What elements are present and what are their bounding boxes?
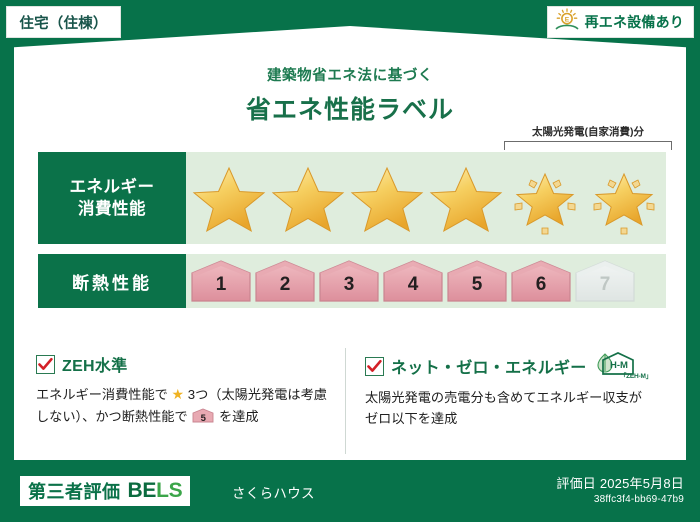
- achievement-net-zero-energy: ネット・ゼロ・エネルギー H-M 「ZEH-M」 太陽光発電の売電分も含めてエネ…: [351, 352, 666, 430]
- star-6: [585, 161, 663, 235]
- page-title: 省エネ性能ラベル: [0, 90, 700, 126]
- energy-row-label: エネルギー 消費性能: [38, 152, 186, 244]
- insulation-row-label: 断熱性能: [38, 254, 186, 308]
- energy-row-label-line1: エネルギー: [70, 176, 155, 198]
- solar-annotation-label: 太陽光発電(自家消費)分: [504, 124, 672, 139]
- star-4: [427, 161, 505, 235]
- achievement-zeh-text-3: を達成: [219, 409, 259, 424]
- insulation-level-3: 3: [318, 259, 380, 303]
- insulation-level-1: 1: [190, 259, 252, 303]
- achievement-nze-header: ネット・ゼロ・エネルギー H-M 「ZEH-M」: [365, 352, 652, 380]
- achievement-nze-title: ネット・ゼロ・エネルギー: [391, 354, 587, 378]
- insulation-level-7: 7: [574, 259, 636, 303]
- insulation-level-6-number: 6: [510, 274, 572, 296]
- house-type-label: 住宅（住棟）: [19, 12, 107, 33]
- renewable-badge-label: 再エネ設備あり: [585, 12, 684, 32]
- inline-star-icon: ★: [172, 386, 185, 402]
- insulation-level-2-number: 2: [254, 274, 316, 296]
- bels-logo: BELS: [128, 479, 183, 503]
- renewable-equipment-badge: E 再エネ設備あり: [547, 6, 694, 38]
- star-rating: [190, 161, 663, 235]
- builder-name: さくらハウス: [232, 482, 315, 502]
- rating-rows: エネルギー 消費性能 太陽光発電(自家消費)分: [38, 152, 666, 318]
- achievement-zeh-header: ZEH水準: [36, 352, 337, 376]
- inline-insulation-badge: 5: [192, 408, 214, 423]
- insulation-level-3-number: 3: [318, 274, 380, 296]
- evaluation-date: 評価日 2025年5月8日: [556, 473, 684, 492]
- title-block: 建築物省エネ法に基づく 省エネ性能ラベル: [0, 64, 700, 126]
- checkmark-icon: [365, 357, 384, 376]
- star-5: [506, 161, 584, 235]
- energy-row-body: 太陽光発電(自家消費)分: [186, 152, 666, 244]
- insulation-row-body: 1 2 3: [186, 254, 666, 308]
- insulation-level-scale: 1 2 3: [190, 259, 636, 303]
- evaluation-info: 評価日 2025年5月8日 38ffc3f4-bb69-47b9: [556, 473, 684, 505]
- house-type-tag: 住宅（住棟）: [6, 6, 121, 38]
- insulation-level-6: 6: [510, 259, 572, 303]
- inline-insulation-badge-number: 5: [192, 411, 214, 426]
- achievement-zeh-standard: ZEH水準 エネルギー消費性能で ★ 3つ（太陽光発電は考慮しない）、かつ断熱性…: [36, 352, 351, 430]
- energy-performance-row: エネルギー 消費性能 太陽光発電(自家消費)分: [38, 152, 666, 244]
- solar-sun-icon: E: [554, 8, 580, 37]
- bels-certification-box: 第三者評価 BELS: [20, 476, 190, 506]
- energy-label-poster: 住宅（住棟） E 再エネ設備あり 建築物: [0, 0, 700, 522]
- insulation-level-4: 4: [382, 259, 444, 303]
- title-subtitle: 建築物省エネ法に基づく: [0, 64, 700, 85]
- insulation-level-7-number: 7: [574, 274, 636, 296]
- insulation-level-1-number: 1: [190, 274, 252, 296]
- star-3: [348, 161, 426, 235]
- star-2: [269, 161, 347, 235]
- zeh-m-logo-caption: 「ZEH-M」: [620, 370, 652, 380]
- achievement-zeh-text-1: エネルギー消費性能で: [36, 387, 168, 402]
- achievement-zeh-body: エネルギー消費性能で ★ 3つ（太陽光発電は考慮しない）、かつ断熱性能で 5 を…: [36, 383, 337, 427]
- svg-text:E: E: [564, 16, 569, 23]
- insulation-level-2: 2: [254, 259, 316, 303]
- checkmark-icon: [36, 355, 55, 374]
- third-party-eval-label: 第三者評価: [28, 478, 121, 504]
- bels-logo-part1: BE: [128, 479, 157, 502]
- achievement-nze-body: 太陽光発電の売電分も含めてエネルギー収支がゼロ以下を達成: [365, 387, 652, 430]
- star-1: [190, 161, 268, 235]
- footer-bar: 第三者評価 BELS さくらハウス 評価日 2025年5月8日 38ffc3f4…: [0, 464, 700, 522]
- evaluation-id: 38ffc3f4-bb69-47b9: [556, 494, 684, 505]
- insulation-level-5: 5: [446, 259, 508, 303]
- solar-self-consumption-annotation: 太陽光発電(自家消費)分: [504, 124, 672, 150]
- insulation-performance-row: 断熱性能: [38, 254, 666, 308]
- bels-logo-part2: LS: [156, 479, 182, 502]
- energy-row-label-line2: 消費性能: [70, 198, 155, 220]
- insulation-level-4-number: 4: [382, 274, 444, 296]
- achievements-section: ZEH水準 エネルギー消費性能で ★ 3つ（太陽光発電は考慮しない）、かつ断熱性…: [36, 352, 666, 430]
- zeh-m-logo-icon: H-M 「ZEH-M」: [592, 352, 652, 380]
- solar-bracket: [504, 141, 672, 150]
- achievement-zeh-title: ZEH水準: [62, 352, 128, 376]
- insulation-level-5-number: 5: [446, 274, 508, 296]
